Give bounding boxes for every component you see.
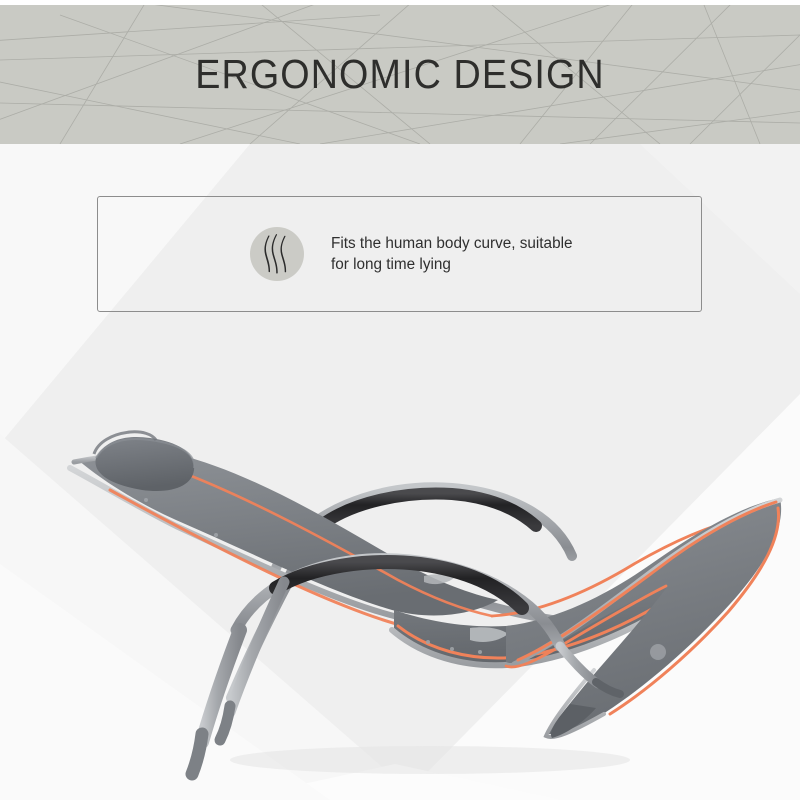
rear-leg-foot [220, 706, 230, 740]
page-title: ERGONOMIC DESIGN [32, 5, 768, 144]
header-band: ERGONOMIC DESIGN [0, 5, 800, 144]
feature-description-line-1: Fits the human body curve, suitable [331, 233, 572, 254]
product-feature-banner: ERGONOMIC DESIGN [0, 0, 800, 800]
footrest-hinge-knob [650, 644, 666, 660]
product-image-lounger [0, 330, 800, 800]
front-leg-foot [192, 734, 202, 774]
product-shadow [230, 746, 630, 774]
body-curve-waves-icon [250, 227, 304, 281]
waves-glyph [262, 234, 292, 274]
feature-description: Fits the human body curve, suitable for … [331, 233, 572, 275]
lounger-illustration [0, 330, 800, 800]
feature-callout-box: Fits the human body curve, suitable for … [97, 196, 702, 312]
feature-description-line-2: for long time lying [331, 254, 572, 275]
